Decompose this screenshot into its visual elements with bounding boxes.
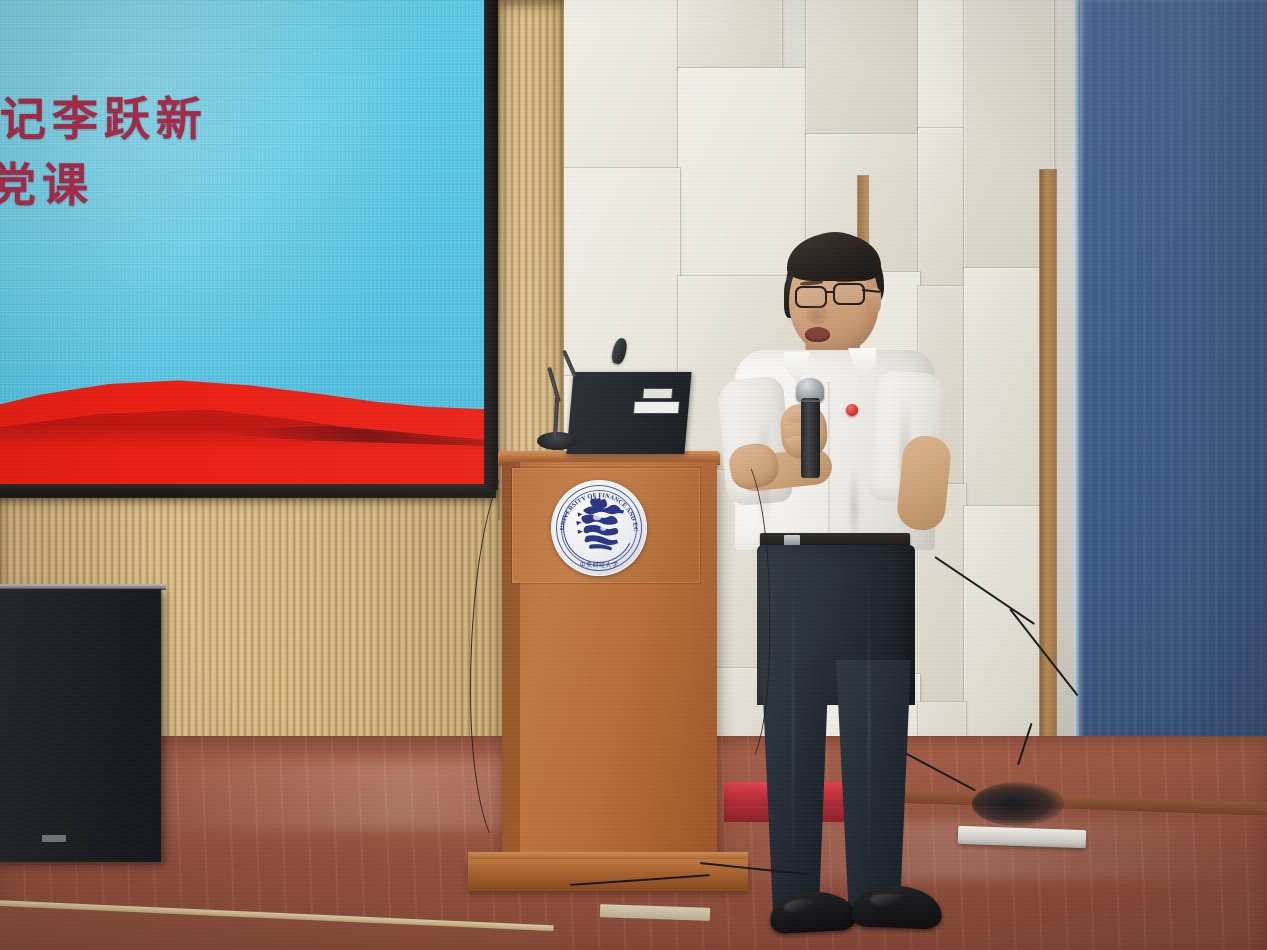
party-lapel-badge	[846, 404, 858, 416]
cable-tangle	[972, 782, 1064, 826]
presenter	[0, 0, 1267, 950]
mouth	[805, 327, 830, 342]
handheld-microphone-body	[801, 398, 820, 478]
cable-microphone-drop	[700, 450, 770, 770]
nose	[806, 304, 828, 324]
shoe-right	[851, 884, 942, 929]
handheld-microphone-ring	[801, 400, 820, 402]
shoe-sheen	[783, 899, 820, 914]
forearm-left	[895, 434, 953, 533]
trouser-crease-right	[868, 566, 870, 886]
photo-scene: 书记李跃新 题党课 CEN	[0, 0, 1267, 950]
leg-right	[836, 660, 914, 908]
trouser-crease-left	[792, 566, 794, 886]
hair-top	[787, 233, 881, 281]
eyeglasses-bridge	[826, 291, 835, 293]
shoe-sheen	[870, 893, 908, 907]
eyeglasses-right-lens	[833, 283, 865, 305]
